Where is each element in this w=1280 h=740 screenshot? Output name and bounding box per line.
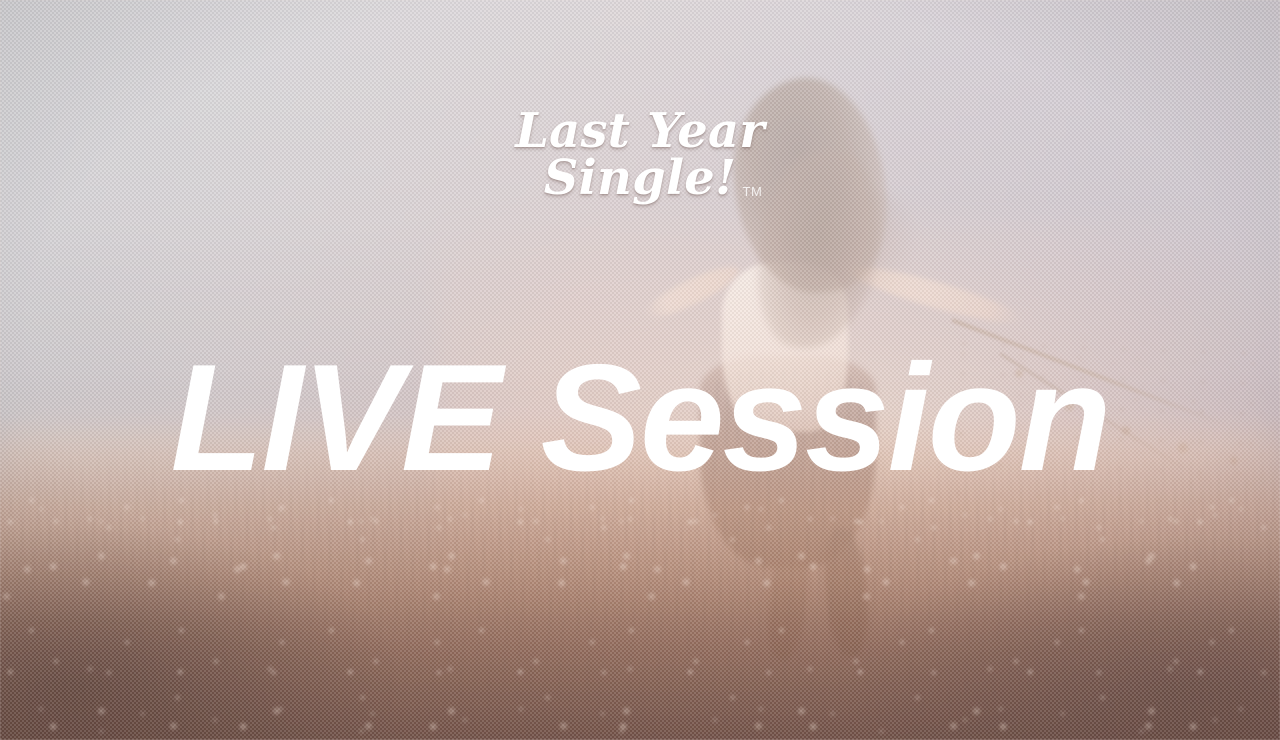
background-photo [0,0,1280,740]
live-session-banner: Last Year Single!TM LIVE Session [0,0,1280,740]
flower-heads [0,429,1280,740]
